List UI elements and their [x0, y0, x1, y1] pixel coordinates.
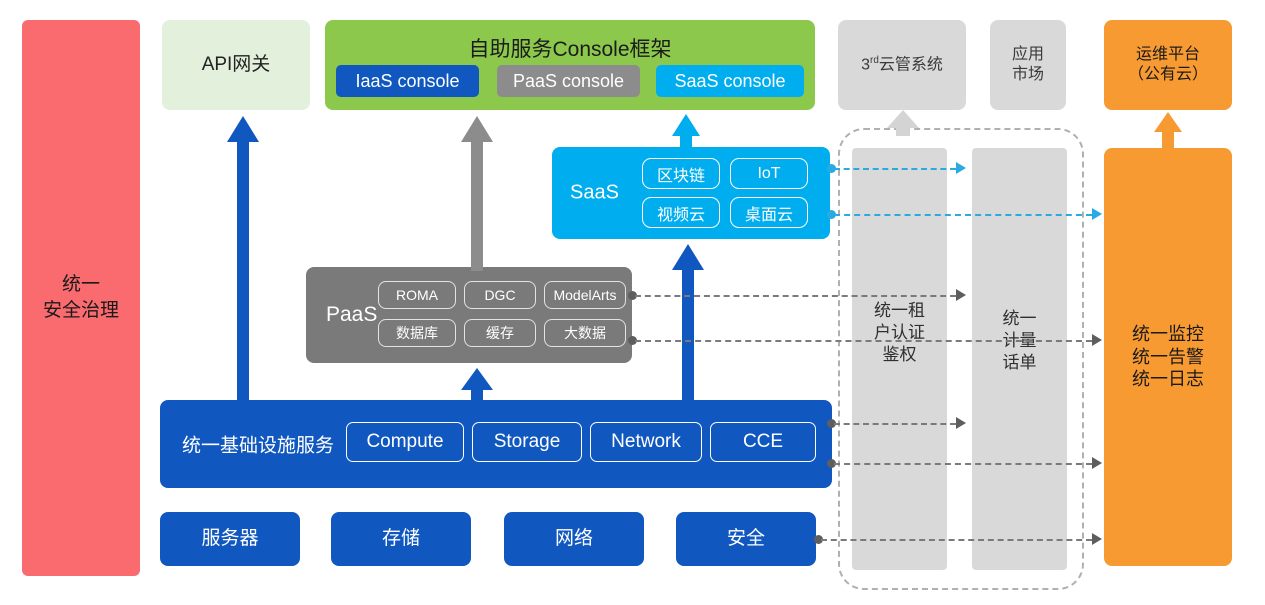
hardware-label: 存储	[382, 527, 420, 551]
saas-service-label: 区块链	[657, 162, 705, 186]
saas-service-label: IoT	[757, 165, 780, 183]
paas-service-label: 大数据	[564, 323, 606, 343]
paas-service-modelarts[interactable]: ModelArts	[544, 281, 626, 309]
ops-platform-line2: （公有云）	[1128, 65, 1208, 85]
ops-platform-public-cloud-box[interactable]: 运维平台 （公有云）	[1104, 20, 1232, 110]
saas-service-label: 桌面云	[745, 201, 793, 225]
ops-panel-line1: 统一监控	[1132, 323, 1204, 346]
paas-service-roma[interactable]: ROMA	[378, 281, 456, 309]
arrowhead-hardware-to-ops	[1092, 533, 1102, 545]
saas-console-chip[interactable]: SaaS console	[656, 65, 804, 97]
column-line: 话单	[972, 352, 1067, 374]
connector-saas-to-ops	[834, 214, 1092, 216]
connector-saas-to-auth	[834, 168, 956, 170]
paas-service-dgc[interactable]: DGC	[464, 281, 536, 309]
infra-service-label: Storage	[494, 431, 561, 453]
connector-infra-to-ops	[834, 463, 1092, 465]
connector-paas-to-ops	[635, 340, 1092, 342]
unified-tenant-auth-text: 统一租 户认证 鉴权	[852, 300, 947, 366]
arrowhead-infra-to-auth	[956, 417, 966, 429]
saas-service-label: 视频云	[657, 201, 705, 225]
iaas-console-chip[interactable]: IaaS console	[336, 65, 479, 97]
infra-service-storage[interactable]: Storage	[472, 422, 582, 462]
app-market-line2: 市场	[1012, 65, 1044, 85]
hardware-storage-box[interactable]: 存储	[331, 512, 471, 566]
saas-service-blockchain[interactable]: 区块链	[642, 158, 720, 189]
hardware-label: 服务器	[201, 527, 258, 551]
arrow-paas-to-console	[460, 116, 494, 271]
architecture-diagram: 统一 安全治理 API网关 自助服务Console框架 IaaS console…	[0, 0, 1265, 605]
paas-service-label: ModelArts	[553, 287, 616, 303]
column-line: 统一租	[852, 300, 947, 322]
infra-service-cce[interactable]: CCE	[710, 422, 816, 462]
third-party-cloud-mgmt-box[interactable]: 3rd云管系统	[838, 20, 966, 110]
paas-layer-box[interactable]: PaaS ROMA DGC ModelArts 数据库 缓存 大数据	[306, 267, 632, 363]
column-line: 鉴权	[852, 344, 947, 366]
paas-service-cache[interactable]: 缓存	[464, 319, 536, 347]
arrowhead-saas-to-auth	[956, 162, 966, 174]
paas-service-database[interactable]: 数据库	[378, 319, 456, 347]
hardware-network-box[interactable]: 网络	[504, 512, 644, 566]
infra-service-label: Compute	[366, 431, 443, 453]
paas-service-bigdata[interactable]: 大数据	[544, 319, 626, 347]
unified-tenant-auth-column[interactable]: 统一租 户认证 鉴权	[852, 148, 947, 570]
connector-infra-to-auth	[834, 423, 956, 425]
unified-infrastructure-layer[interactable]: 统一基础设施服务 Compute Storage Network CCE	[160, 400, 832, 488]
console-frame-title: 自助服务Console框架	[325, 33, 815, 63]
paas-service-label: 缓存	[486, 323, 514, 343]
saas-console-label: SaaS console	[674, 71, 785, 92]
hardware-label: 安全	[727, 527, 765, 551]
arrowhead-paas-to-ops	[1092, 334, 1102, 346]
arrow-container-to-third-party	[885, 110, 921, 136]
infra-service-compute[interactable]: Compute	[346, 422, 464, 462]
self-service-console-frame[interactable]: 自助服务Console框架 IaaS console PaaS console …	[325, 20, 815, 110]
saas-service-iot[interactable]: IoT	[730, 158, 808, 189]
security-governance-line1: 统一	[43, 273, 119, 297]
unified-metering-billing-column[interactable]: 统一 计量 话单	[972, 148, 1067, 570]
api-gateway-label: API网关	[202, 53, 271, 77]
infra-service-label: CCE	[743, 431, 783, 453]
ops-panel-line3: 统一日志	[1132, 368, 1204, 391]
api-gateway-box[interactable]: API网关	[162, 20, 310, 110]
arrowhead-infra-to-ops	[1092, 457, 1102, 469]
hardware-label: 网络	[555, 527, 593, 551]
paas-console-label: PaaS console	[513, 71, 624, 92]
security-governance-line2: 安全治理	[43, 299, 119, 323]
ops-platform-line1: 运维平台	[1128, 45, 1208, 65]
infra-layer-label: 统一基础设施服务	[182, 431, 334, 458]
app-market-line1: 应用	[1012, 45, 1044, 65]
saas-service-video-cloud[interactable]: 视频云	[642, 197, 720, 228]
arrow-ops-panel-to-platform	[1152, 112, 1184, 150]
infra-service-label: Network	[611, 431, 681, 453]
paas-service-label: ROMA	[396, 287, 438, 303]
paas-service-label: DGC	[484, 287, 515, 303]
iaas-console-label: IaaS console	[355, 71, 459, 92]
paas-layer-label: PaaS	[326, 303, 377, 327]
hardware-server-box[interactable]: 服务器	[160, 512, 300, 566]
infra-service-network[interactable]: Network	[590, 422, 702, 462]
connector-paas-to-auth	[635, 295, 956, 297]
saas-layer-label: SaaS	[570, 182, 619, 205]
saas-layer-box[interactable]: SaaS 区块链 IoT 视频云 桌面云	[552, 147, 830, 239]
arrowhead-paas-to-auth	[956, 289, 966, 301]
unified-ops-panel[interactable]: 统一监控 统一告警 统一日志	[1104, 148, 1232, 566]
connector-hardware-to-ops	[821, 539, 1092, 541]
security-governance-panel[interactable]: 统一 安全治理	[22, 20, 140, 576]
hardware-security-box[interactable]: 安全	[676, 512, 816, 566]
arrow-infra-to-api-gateway	[226, 116, 260, 406]
third-party-label: 3rd云管系统	[861, 55, 943, 75]
app-market-box[interactable]: 应用 市场	[990, 20, 1066, 110]
paas-service-label: 数据库	[396, 323, 438, 343]
ops-panel-line2: 统一告警	[1132, 346, 1204, 369]
arrow-infra-to-paas	[460, 368, 494, 404]
arrow-infra-to-saas	[671, 244, 705, 402]
column-line: 统一	[972, 308, 1067, 330]
arrowhead-saas-to-ops	[1092, 208, 1102, 220]
paas-console-chip[interactable]: PaaS console	[497, 65, 640, 97]
arrow-saas-to-console	[671, 114, 701, 150]
saas-service-desktop-cloud[interactable]: 桌面云	[730, 197, 808, 228]
